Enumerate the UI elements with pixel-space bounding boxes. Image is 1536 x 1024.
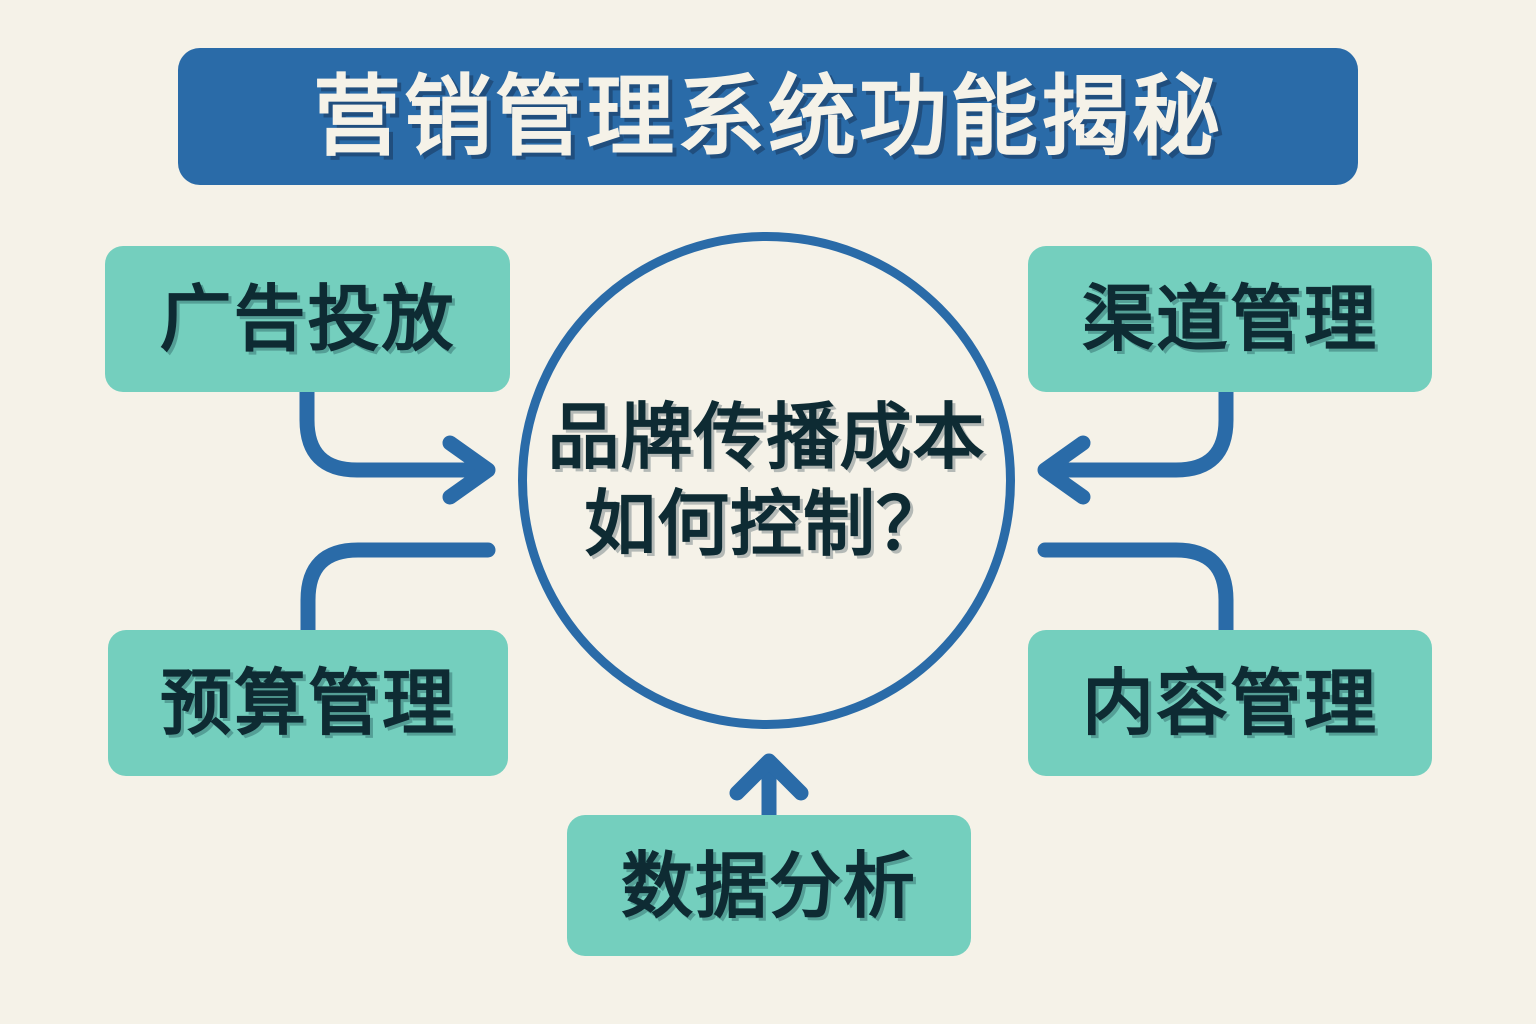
feature-label-channel-management: 渠道管理 [1082, 283, 1378, 355]
diagram-canvas: 营销管理系统功能揭秘 品牌传播成本 如何控制？ [0, 0, 1536, 1024]
feature-box-ad-placement[interactable]: 广告投放 [105, 246, 510, 392]
connector-channel-to-center [1045, 392, 1226, 497]
feature-label-data-analytics: 数据分析 [621, 850, 917, 922]
connector-analytics-to-center [737, 761, 801, 818]
connector-budget-to-center [308, 550, 488, 630]
page-title: 营销管理系统功能揭秘 [313, 73, 1223, 161]
feature-box-data-analytics[interactable]: 数据分析 [567, 815, 971, 956]
connector-content-to-center [1045, 550, 1226, 630]
feature-box-channel-management[interactable]: 渠道管理 [1028, 246, 1432, 392]
center-circle [518, 232, 1015, 729]
connector-ad-to-center [307, 392, 488, 497]
feature-label-ad-placement: 广告投放 [159, 283, 455, 355]
feature-box-budget-management[interactable]: 预算管理 [108, 630, 508, 776]
feature-label-content-management: 内容管理 [1082, 667, 1378, 739]
feature-label-budget-management: 预算管理 [160, 667, 456, 739]
feature-box-content-management[interactable]: 内容管理 [1028, 630, 1432, 776]
title-banner: 营销管理系统功能揭秘 [178, 48, 1358, 185]
